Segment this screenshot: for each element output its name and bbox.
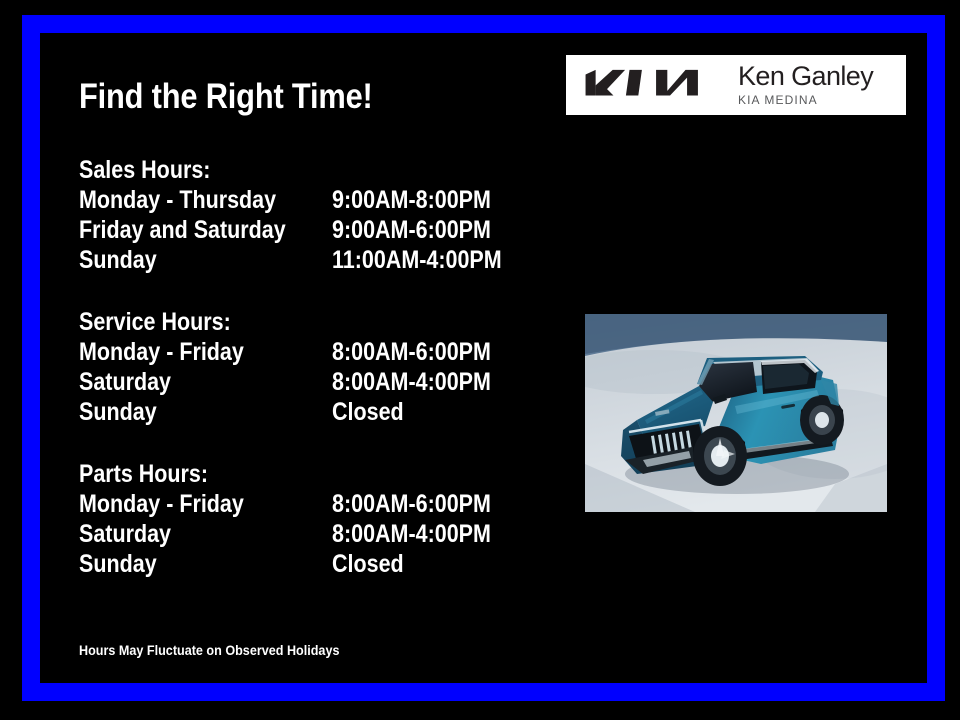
hours-row-time: 11:00AM-4:00PM [332, 245, 502, 275]
hours-row-time: 8:00AM-6:00PM [332, 489, 491, 519]
hours-row-time: Closed [332, 397, 404, 427]
hours-row-time: 9:00AM-8:00PM [332, 185, 491, 215]
dealer-name: Ken Ganley [738, 63, 873, 90]
kia-logo-icon [584, 68, 708, 102]
hours-block-service: Service Hours: Monday - Friday 8:00AM-6:… [79, 307, 549, 427]
hours-row: Sunday Closed [79, 397, 549, 427]
dealer-name-block: Ken Ganley KIA MEDINA [738, 63, 873, 107]
hours-row: Sunday 11:00AM-4:00PM [79, 245, 549, 275]
hours-row-day: Sunday [79, 549, 157, 579]
hours-row-day: Friday and Saturday [79, 215, 286, 245]
hours-row-day: Saturday [79, 367, 171, 397]
hours-row-time: 8:00AM-4:00PM [332, 519, 491, 549]
hours-row-day: Sunday [79, 397, 157, 427]
kia-ev9-suv-illustration [585, 314, 887, 512]
hours-block-sales: Sales Hours: Monday - Thursday 9:00AM-8:… [79, 155, 549, 275]
hours-block-parts: Parts Hours: Monday - Friday 8:00AM-6:00… [79, 459, 549, 579]
vehicle-photo [585, 314, 887, 512]
hours-row: Monday - Thursday 9:00AM-8:00PM [79, 185, 549, 215]
hours-row: Sunday Closed [79, 549, 549, 579]
slide-canvas: Find the Right Time! Sales Hours: Monday… [0, 0, 960, 720]
hours-row: Saturday 8:00AM-4:00PM [79, 367, 549, 397]
footer-note: Hours May Fluctuate on Observed Holidays [79, 641, 339, 659]
dealer-logo-lockup: Ken Ganley KIA MEDINA [566, 55, 906, 115]
hours-row-day: Monday - Friday [79, 489, 244, 519]
hours-row: Monday - Friday 8:00AM-6:00PM [79, 337, 549, 367]
hours-row-time: 8:00AM-6:00PM [332, 337, 491, 367]
hours-block-heading: Service Hours: [79, 307, 483, 337]
hours-block-heading: Parts Hours: [79, 459, 483, 489]
hours-row: Friday and Saturday 9:00AM-6:00PM [79, 215, 549, 245]
hours-row-day: Monday - Thursday [79, 185, 276, 215]
dealer-subtitle: KIA MEDINA [738, 93, 873, 107]
hours-row-time: 8:00AM-4:00PM [332, 367, 491, 397]
hours-row-day: Sunday [79, 245, 157, 275]
hours-row-time: Closed [332, 549, 404, 579]
hours-row: Saturday 8:00AM-4:00PM [79, 519, 549, 549]
hours-row: Monday - Friday 8:00AM-6:00PM [79, 489, 549, 519]
hours-row-time: 9:00AM-6:00PM [332, 215, 491, 245]
hours-row-day: Monday - Friday [79, 337, 244, 367]
hours-block-heading: Sales Hours: [79, 155, 483, 185]
hours-row-day: Saturday [79, 519, 171, 549]
page-title: Find the Right Time! [79, 76, 373, 118]
